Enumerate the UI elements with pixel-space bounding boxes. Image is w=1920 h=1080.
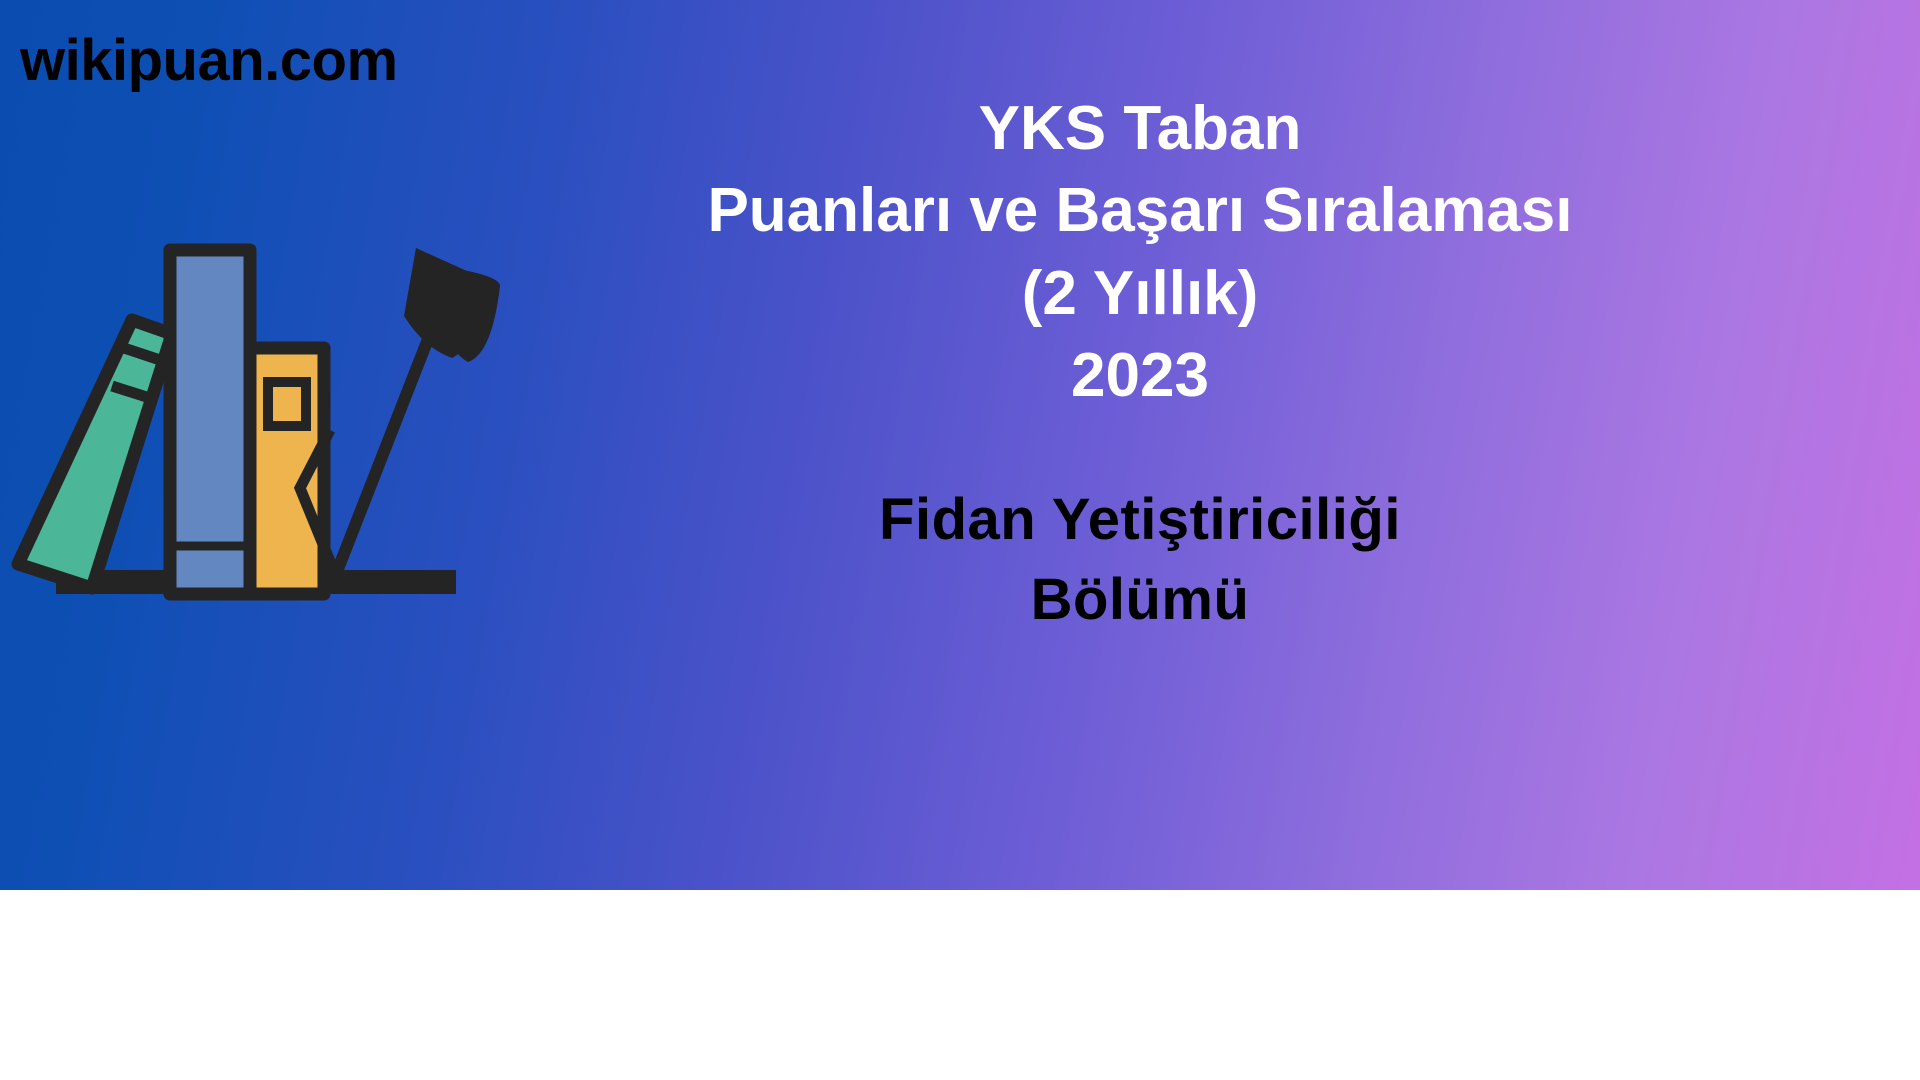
page-title-line-4: 2023 <box>560 335 1720 417</box>
blue-grey-book-shape <box>170 250 250 594</box>
page-title: YKS Taban Puanları ve Başarı Sıralaması … <box>560 88 1720 418</box>
department-title-line-1: Fidan Yetiştiriciliği <box>560 480 1720 560</box>
site-watermark: wikipuan.com <box>20 32 398 90</box>
page-title-line-1: YKS Taban <box>560 88 1720 170</box>
page-title-line-3: (2 Yıllık) <box>560 253 1720 335</box>
text-column: YKS Taban Puanları ve Başarı Sıralaması … <box>560 88 1720 640</box>
department-title-line-2: Bölümü <box>560 560 1720 640</box>
page-title-line-2: Puanları ve Başarı Sıralaması <box>560 170 1720 252</box>
green-tilted-book-shape <box>18 320 172 588</box>
department-title: Fidan Yetiştiriciliği Bölümü <box>560 480 1720 640</box>
books-and-lamp-illustration <box>0 230 520 610</box>
hero-banner: wikipuan.com <box>0 0 1920 890</box>
below-fold-blank-area <box>0 890 1920 1080</box>
